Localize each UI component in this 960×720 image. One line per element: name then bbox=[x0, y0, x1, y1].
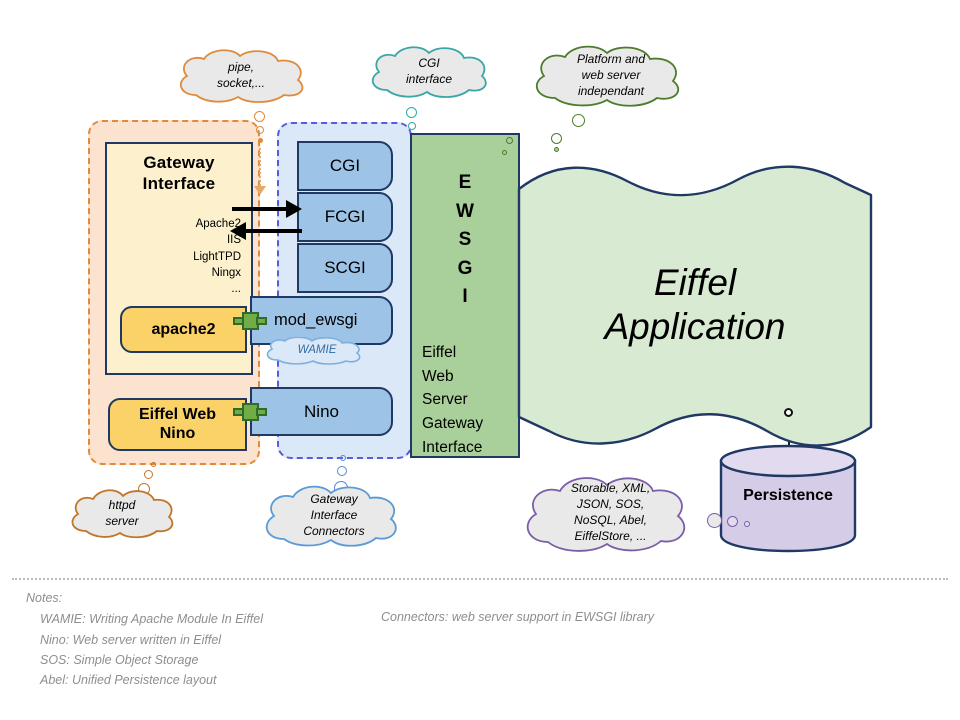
cloud-tail-dot-large bbox=[707, 513, 722, 528]
cloud-gateway-interface-connectors: Gateway Interface Connectors bbox=[258, 483, 410, 549]
ewsgi-letter-s: S bbox=[412, 226, 518, 255]
cloud-pipe-socket-text: pipe, socket,... bbox=[172, 48, 310, 104]
cloud-tail-dot-mid bbox=[144, 470, 153, 479]
ewsgi-corner-dot-icon bbox=[554, 147, 559, 152]
server-item-ningx: Ningx bbox=[107, 265, 241, 281]
cloud-wamie-label: WAMIE bbox=[298, 343, 337, 358]
connector-chip-fcgi-label: FCGI bbox=[325, 207, 366, 227]
cloud-tail-dot-small bbox=[744, 521, 750, 527]
diagram-canvas: Gateway Interface Apache2 IIS LightTPD N… bbox=[0, 0, 960, 720]
server-chip-nino-line1: Eiffel Web bbox=[139, 406, 216, 423]
cloud-platform-line3: independant bbox=[578, 84, 644, 100]
connector-chip-scgi[interactable]: SCGI bbox=[297, 243, 393, 293]
ewsgi-letter-e: E bbox=[412, 169, 518, 198]
gateway-title-line1: Gateway bbox=[107, 152, 251, 173]
cloud-wamie: WAMIE bbox=[262, 337, 372, 365]
gateway-interface-title: Gateway Interface bbox=[107, 152, 251, 195]
cloud-platform-text: Platform and web server independant bbox=[527, 44, 695, 108]
cloud-pipe-line2: socket,... bbox=[217, 76, 265, 92]
ewsgi-acronym: E W S G I bbox=[412, 169, 518, 312]
cloud-gic-text: Gateway Interface Connectors bbox=[258, 483, 410, 549]
ewsgi-letter-g: G bbox=[412, 255, 518, 284]
arrow-response-head-icon bbox=[230, 222, 246, 240]
cloud-tail-dot-small bbox=[258, 138, 263, 143]
ewsgi-letter-w: W bbox=[412, 198, 518, 227]
cloud-storage-line4: EiffelStore, ... bbox=[574, 529, 646, 545]
connector-chip-nino[interactable]: Nino bbox=[250, 387, 393, 436]
ewsgi-expansion: Eiffel Web Server Gateway Interface bbox=[422, 341, 483, 460]
arrow-request-head-icon bbox=[286, 200, 302, 218]
cloud-tail-dot-large bbox=[254, 111, 265, 122]
plug-right-prong-icon bbox=[256, 317, 267, 325]
cloud-gic-line3: Connectors bbox=[303, 524, 364, 540]
ewsgi-expansion-server: Server bbox=[422, 388, 483, 412]
server-chip-nino-line2: Nino bbox=[160, 425, 196, 442]
server-chip-eiffel-web-nino[interactable]: Eiffel Web Nino bbox=[108, 398, 247, 451]
persistence-link-dot-top-icon bbox=[784, 408, 793, 417]
server-item-lighttpd: LightTPD bbox=[107, 249, 241, 265]
gateway-title-line2: Interface bbox=[107, 173, 251, 194]
connector-chip-cgi[interactable]: CGI bbox=[297, 141, 393, 191]
cloud-httpd-server: httpd server bbox=[66, 488, 178, 540]
cloud-httpd-line1: httpd bbox=[109, 498, 136, 514]
application-label-line2: Application bbox=[515, 305, 875, 349]
server-chip-apache2[interactable]: apache2 bbox=[120, 306, 247, 353]
persistence-label-text: Persistence bbox=[743, 487, 833, 504]
ewsgi-panel[interactable]: E W S G I Eiffel Web Server Gateway Inte… bbox=[410, 133, 520, 458]
cloud-cgi-line1: CGI bbox=[418, 56, 439, 72]
arrow-request-line bbox=[232, 207, 288, 211]
gateway-server-list: Apache2 IIS LightTPD Ningx ... bbox=[107, 216, 241, 298]
cloud-tail-dot-mid bbox=[256, 126, 264, 134]
cloud-tail-dot-mid bbox=[506, 137, 513, 144]
cloud-storage-line3: NoSQL, Abel, bbox=[574, 513, 647, 529]
plug-right-prong-icon bbox=[256, 408, 267, 416]
cloud-tail-dot-small bbox=[340, 455, 346, 461]
connector-chip-fcgi[interactable]: FCGI bbox=[297, 192, 393, 242]
note-item-sos: SOS: Simple Object Storage bbox=[26, 650, 726, 670]
cloud-tail-dot-small bbox=[502, 150, 507, 155]
cloud-tail-dot-mid bbox=[408, 122, 416, 130]
arrow-response-line bbox=[246, 229, 302, 233]
cloud-pipe-socket: pipe, socket,... bbox=[172, 48, 310, 104]
cloud-storage-line1: Storable, XML, bbox=[571, 481, 650, 497]
ewsgi-expansion-gateway: Gateway bbox=[422, 412, 483, 436]
cloud-tail-dot-small bbox=[151, 462, 156, 467]
note-item-nino: Nino: Web server written in Eiffel bbox=[26, 630, 726, 650]
cloud-cgi-line2: interface bbox=[406, 72, 452, 88]
ewsgi-letter-i: I bbox=[412, 283, 518, 312]
cloud-cgi-text: CGI interface bbox=[365, 45, 493, 99]
server-item-iis: IIS bbox=[107, 232, 241, 248]
plug-connector-icon-nino bbox=[233, 399, 267, 425]
persistence-label: Persistence bbox=[718, 487, 858, 505]
ewsgi-corner-handle-icon bbox=[551, 133, 562, 144]
server-chip-nino-label: Eiffel Web Nino bbox=[139, 406, 216, 444]
cloud-cgi-interface: CGI interface bbox=[365, 45, 493, 99]
application-label-line1: Eiffel bbox=[515, 261, 875, 305]
notes-header: Notes: bbox=[26, 588, 726, 608]
cloud-tail-dot-large bbox=[406, 107, 417, 118]
ewsgi-expansion-web: Web bbox=[422, 365, 483, 389]
pipe-dotted-connector bbox=[259, 148, 261, 186]
cloud-tail-dot-mid bbox=[337, 466, 347, 476]
server-item-ellipsis: ... bbox=[107, 281, 241, 297]
cloud-storage-line2: JSON, SOS, bbox=[577, 497, 644, 513]
plug-connector-icon-mod-ewsgi bbox=[233, 308, 267, 334]
cloud-pipe-line1: pipe, bbox=[228, 60, 254, 76]
pipe-arrow-head-icon bbox=[254, 186, 266, 195]
cloud-platform-line2: web server bbox=[582, 68, 641, 84]
cloud-httpd-text: httpd server bbox=[66, 488, 178, 540]
cloud-platform-independent: Platform and web server independant bbox=[527, 44, 695, 108]
cloud-tail-dot-large bbox=[572, 114, 585, 127]
eiffel-application-label: Eiffel Application bbox=[515, 261, 875, 350]
connector-chip-scgi-label: SCGI bbox=[324, 258, 366, 278]
footer-divider bbox=[12, 578, 948, 580]
cloud-storage-text: Storable, XML, JSON, SOS, NoSQL, Abel, E… bbox=[518, 472, 703, 554]
cloud-wamie-text: WAMIE bbox=[262, 337, 372, 365]
ewsgi-expansion-interface: Interface bbox=[422, 436, 483, 460]
eiffel-application-banner[interactable]: Eiffel Application bbox=[515, 165, 875, 455]
cloud-platform-line1: Platform and bbox=[577, 52, 645, 68]
cloud-gic-line2: Interface bbox=[311, 508, 358, 524]
note-item-connectors: Connectors: web server support in EWSGI … bbox=[381, 607, 654, 627]
connector-chip-mod-ewsgi-label: mod_ewsgi bbox=[274, 311, 357, 330]
cloud-gic-line1: Gateway bbox=[310, 492, 357, 508]
server-item-apache2: Apache2 bbox=[107, 216, 241, 232]
connector-chip-cgi-label: CGI bbox=[330, 156, 360, 176]
connector-chip-nino-label: Nino bbox=[304, 402, 339, 422]
persistence-cylinder[interactable]: Persistence bbox=[718, 443, 858, 553]
cloud-tail-dot-mid bbox=[727, 516, 738, 527]
notes-block: Notes: WAMIE: Writing Apache Module In E… bbox=[26, 588, 726, 690]
cloud-httpd-line2: server bbox=[105, 514, 138, 530]
ewsgi-expansion-eiffel: Eiffel bbox=[422, 341, 483, 365]
cloud-storage-options: Storable, XML, JSON, SOS, NoSQL, Abel, E… bbox=[518, 472, 703, 554]
server-chip-apache2-label: apache2 bbox=[151, 321, 215, 339]
note-item-abel: Abel: Unified Persistence layout bbox=[26, 670, 726, 690]
